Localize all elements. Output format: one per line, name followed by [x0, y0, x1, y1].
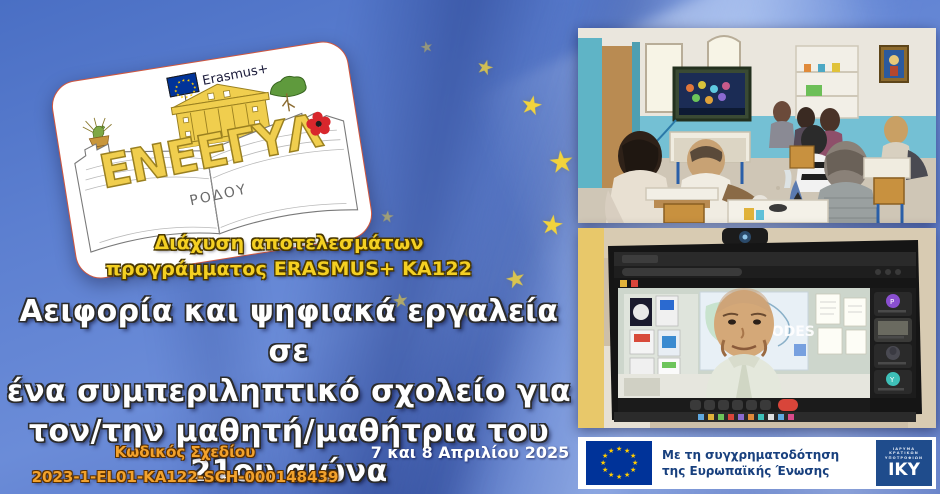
eu-cofunding-block: ★ ★ ★ ★ ★ ★ ★ ★ ★ ★ ★ ★ Με τη συγχρηματο…: [578, 437, 874, 489]
hibiscus-flower-icon: [304, 109, 334, 139]
eu-funding-banner: ★ ★ ★ ★ ★ ★ ★ ★ ★ ★ ★ ★ Με τη συγχρηματο…: [578, 437, 936, 489]
project-code-block: Κωδικός Σχεδίου 2023-1-EL01-KA122-SCH-00…: [0, 440, 370, 490]
subtitle-line-1: Διάχυση αποτελεσμάτων: [0, 230, 578, 256]
title-line-2: ένα συμπεριληπτικό σχολείο για: [0, 372, 578, 412]
cofunding-text: Με τη συγχρηματοδότηση της Ευρωπαϊκής Έν…: [662, 447, 839, 479]
meta-row: Κωδικός Σχεδίου 2023-1-EL01-KA122-SCH-00…: [0, 440, 578, 494]
classroom-presentation-photo: [578, 28, 936, 223]
video-conference-photo-graphic: HODES: [578, 228, 936, 428]
video-conference-photo: HODES: [578, 228, 936, 428]
iky-logo: ΙΔΡΥΜΑ ΚΡΑΤΙΚΩΝ ΥΠΟΤΡΟΦΙΩΝ IKY: [874, 437, 936, 489]
cofunding-line-2: της Ευρωπαϊκής Ένωσης: [662, 463, 839, 479]
classroom-photo-graphic: [578, 28, 936, 223]
iky-acronym: IKY: [888, 461, 920, 479]
iky-logo-inner: ΙΔΡΥΜΑ ΚΡΑΤΙΚΩΝ ΥΠΟΤΡΟΦΙΩΝ IKY: [876, 440, 932, 486]
svg-text:P: P: [890, 298, 894, 306]
event-date: 7 και 8 Απριλίου 2025: [365, 443, 575, 462]
eu-star-icon: ★: [518, 90, 546, 120]
svg-text:Y: Y: [889, 376, 895, 384]
subtitle-line-2: προγράμματος ERASMUS+ KA122: [0, 256, 578, 282]
poster-root: ★ ★ ★ ★ ★ ★ ★ ★ ★ ★ ★ ★ ★ ★ ★ ★ ★: [0, 0, 940, 494]
eu-star-icon: ★: [547, 147, 577, 180]
eu-star-icon: ★: [474, 56, 497, 80]
eu-flag-icon: ★ ★ ★ ★ ★ ★ ★ ★ ★ ★ ★ ★: [586, 441, 652, 485]
eu-star-icon: ★: [379, 209, 395, 226]
eu-star-icon: ★: [419, 39, 435, 56]
project-code-value: 2023-1-EL01-KA122-SCH-000148439: [0, 465, 370, 490]
title-line-1: Αειφορία και ψηφιακά εργαλεία σε: [0, 292, 578, 372]
cofunding-line-1: Με τη συγχρηματοδότηση: [662, 447, 839, 463]
project-code-label: Κωδικός Σχεδίου: [0, 440, 370, 465]
